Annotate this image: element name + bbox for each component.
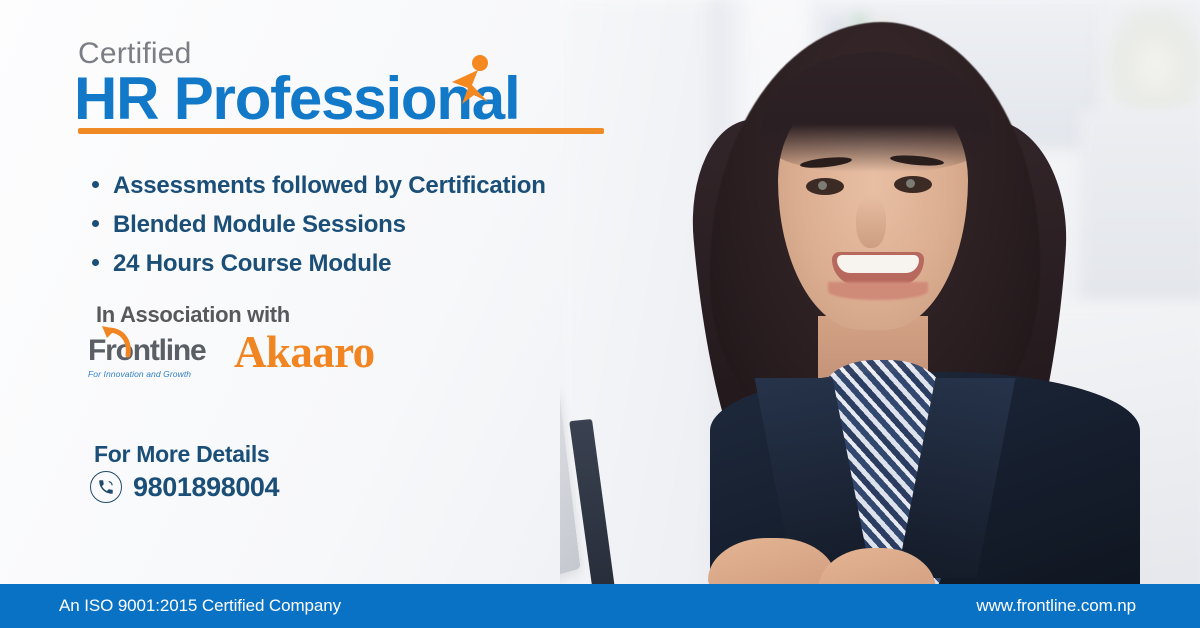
lower-lip — [828, 282, 928, 300]
list-item: 24 Hours Course Module — [92, 250, 632, 278]
frontline-logo: Frontline For Innovation and Growth — [88, 336, 210, 379]
list-item-label: Assessments followed by Certification — [113, 172, 546, 200]
promotional-banner: Certified HR Professional Assessments fo… — [0, 0, 1200, 628]
iso-certification-text: An ISO 9001:2015 Certified Company — [59, 596, 341, 616]
phone-icon — [90, 471, 122, 503]
contact-phone-row[interactable]: 9801898004 — [90, 471, 279, 503]
page-title: HR Professional — [74, 64, 519, 133]
bullet-dot — [92, 181, 99, 188]
background-flowers — [1100, 0, 1200, 120]
footer-bar: An ISO 9001:2015 Certified Company www.f… — [0, 584, 1200, 628]
bullet-dot — [92, 259, 99, 266]
akaaro-logo: Akaaro — [234, 332, 375, 373]
partner-logos: Frontline For Innovation and Growth Akaa… — [88, 336, 375, 379]
feature-list: Assessments followed by Certification Bl… — [92, 172, 632, 289]
eye-highlight-right — [906, 179, 915, 188]
frontline-tagline: For Innovation and Growth — [88, 369, 210, 379]
nose — [856, 196, 886, 248]
eye-highlight-left — [818, 181, 827, 190]
teeth — [837, 255, 919, 273]
mouth — [832, 252, 924, 286]
bullet-dot — [92, 220, 99, 227]
list-item: Blended Module Sessions — [92, 211, 632, 239]
arrow-up-icon — [98, 324, 134, 358]
hero-photo — [560, 0, 1200, 598]
list-item-label: Blended Module Sessions — [113, 211, 406, 239]
contact-title: For More Details — [94, 441, 269, 468]
list-item: Assessments followed by Certification — [92, 172, 632, 200]
list-item-label: 24 Hours Course Module — [113, 250, 391, 278]
website-url[interactable]: www.frontline.com.np — [976, 596, 1136, 616]
phone-number[interactable]: 9801898004 — [133, 472, 279, 503]
title-underline — [78, 128, 604, 134]
